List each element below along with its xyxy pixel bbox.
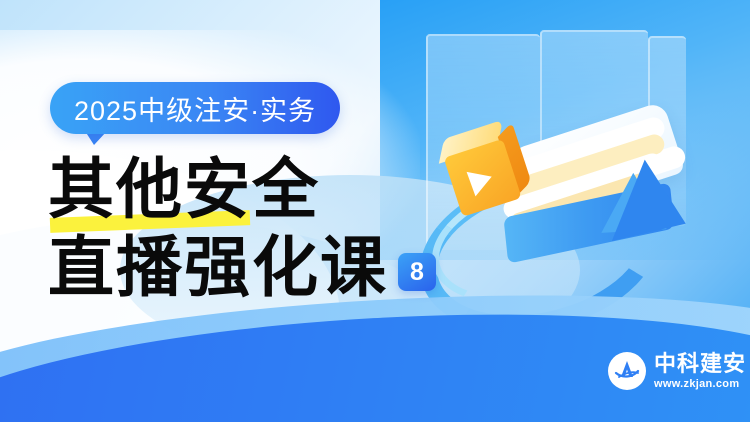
zkjan-logo-icon (608, 352, 646, 390)
brand-name: 中科建安 (654, 353, 746, 375)
course-category-badge: 2025中级注安·实务 (50, 82, 340, 134)
brand-url: www.zkjan.com (654, 379, 746, 390)
brand-logo-text: 中科建安 www.zkjan.com (654, 353, 746, 390)
headline-group: 其他安全 直播强化课 8 (48, 152, 436, 308)
episode-number-label: 8 (410, 258, 424, 287)
headline-row-2: 直播强化课 8 (48, 230, 436, 308)
course-promo-banner: 2025中级注安·实务 其他安全 直播强化课 8 中科建安 www.zkjan.… (0, 0, 750, 422)
headline-row-1: 其他安全 (48, 152, 436, 230)
headline-line-1: 其他安全 (48, 158, 320, 224)
brand-logo: 中科建安 www.zkjan.com (608, 352, 746, 390)
headline-line-2: 直播强化课 (48, 236, 388, 302)
course-category-label: 2025中级注安·实务 (74, 89, 316, 128)
episode-number-badge: 8 (398, 253, 436, 291)
